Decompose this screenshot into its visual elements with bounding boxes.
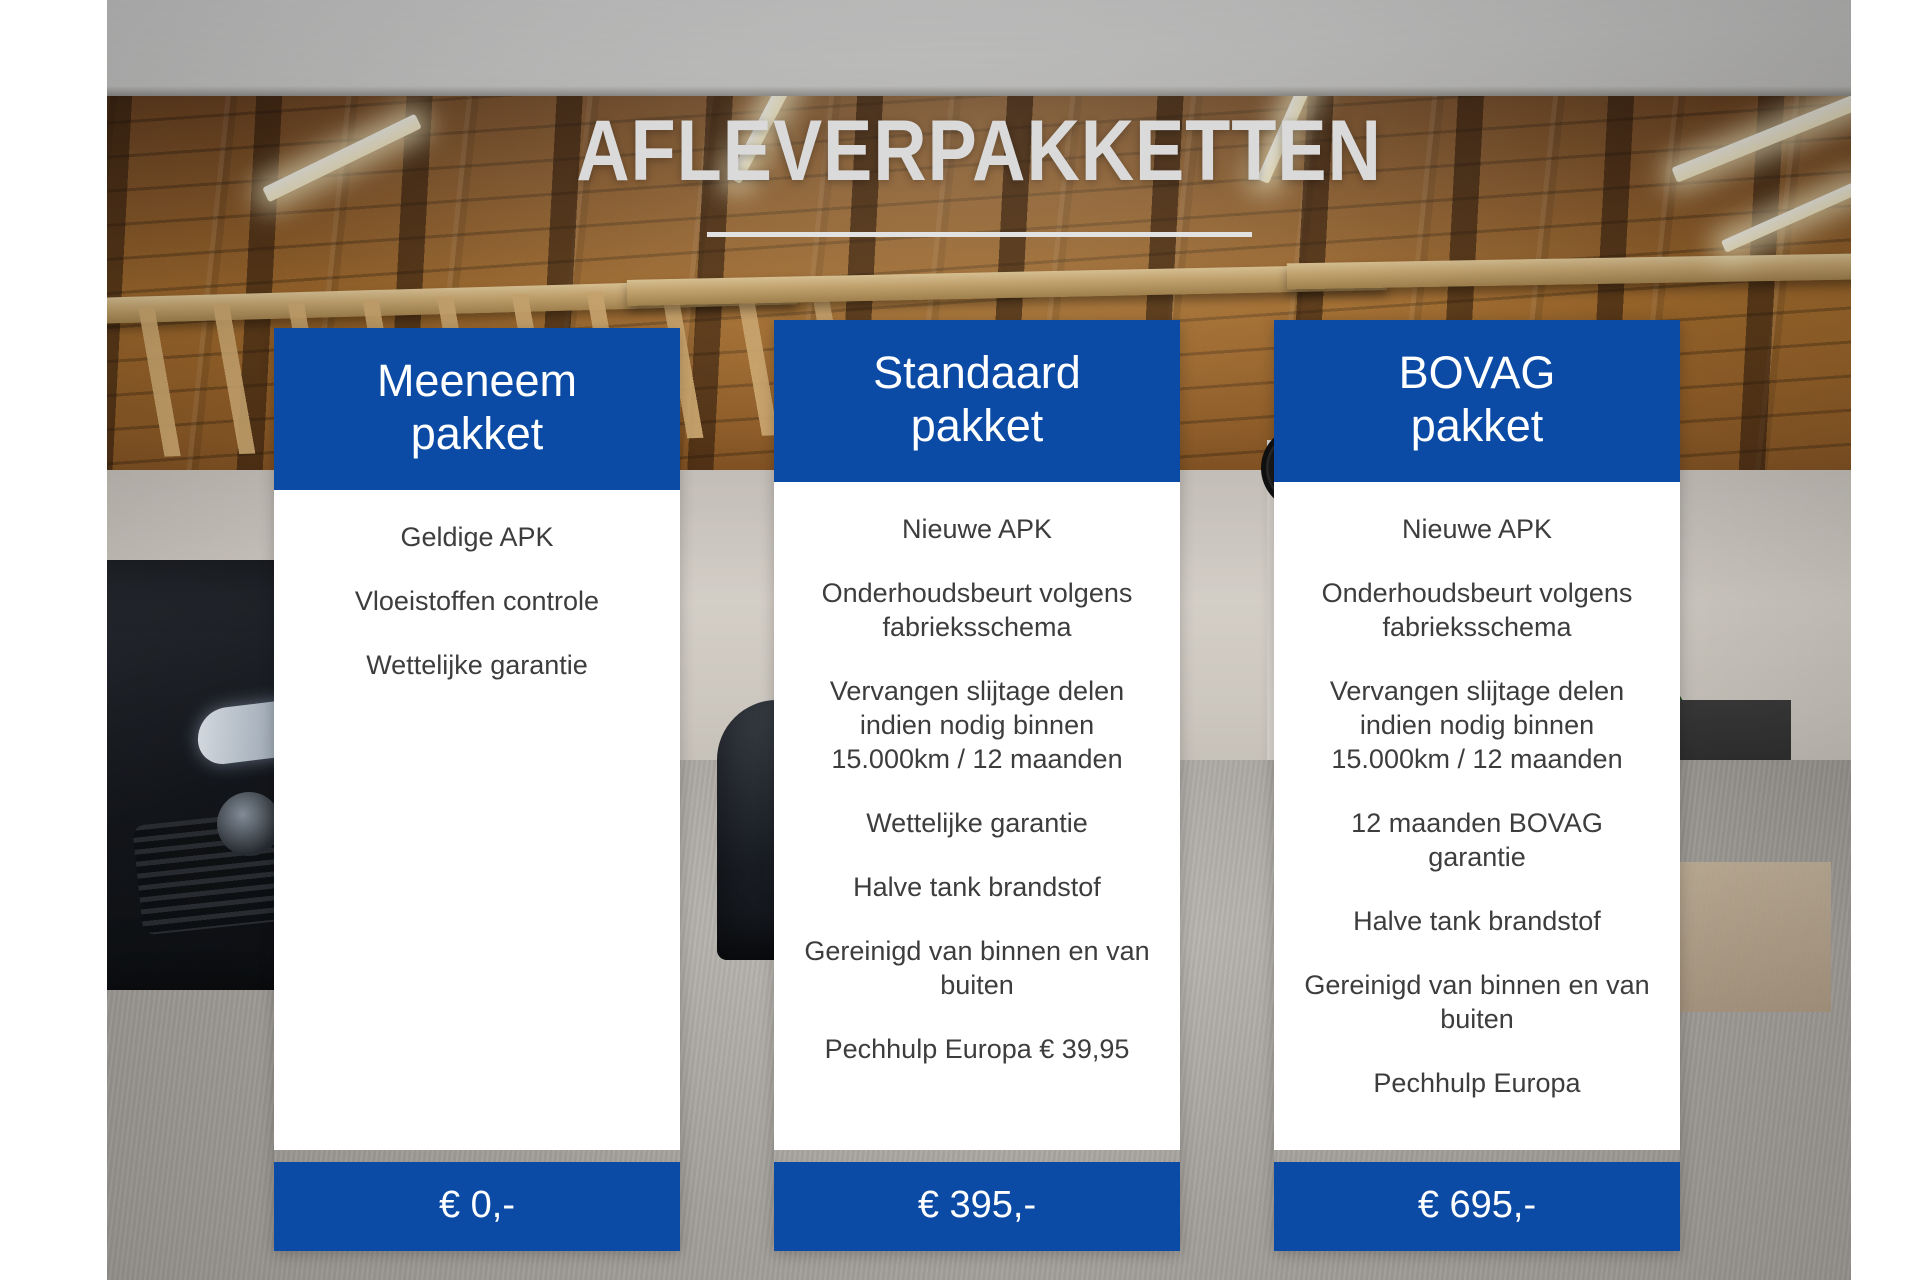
package-name-line1: Standaard (784, 346, 1170, 399)
package-card-header: Standaard pakket (774, 320, 1180, 482)
package-feature: Onderhoudsbeurt volgens fabrieksschema (800, 576, 1154, 644)
package-feature-list: Nieuwe APK Onderhoudsbeurt volgens fabri… (1274, 482, 1680, 1150)
title-underline (707, 232, 1252, 237)
package-price: € 695,- (1274, 1162, 1680, 1251)
package-feature-list: Nieuwe APK Onderhoudsbeurt volgens fabri… (774, 482, 1180, 1150)
package-card-bovag[interactable]: BOVAG pakket Nieuwe APK Onderhoudsbeurt … (1274, 320, 1680, 1251)
package-feature: Pechhulp Europa € 39,95 (800, 1032, 1154, 1066)
package-card-meeneem[interactable]: Meeneem pakket Geldige APK Vloeistoffen … (274, 328, 680, 1251)
ceiling-soffit (107, 0, 1851, 96)
package-feature: Pechhulp Europa (1300, 1066, 1654, 1100)
package-name-line1: BOVAG (1284, 346, 1670, 399)
package-card-header: Meeneem pakket (274, 328, 680, 490)
car-foglight (217, 792, 281, 856)
package-name-line2: pakket (284, 407, 670, 460)
package-feature: Wettelijke garantie (300, 648, 654, 682)
package-feature-list: Geldige APK Vloeistoffen controle Wettel… (274, 490, 680, 1150)
package-name-line2: pakket (1284, 399, 1670, 452)
package-feature: Geldige APK (300, 520, 654, 554)
package-name-line1: Meeneem (284, 354, 670, 407)
package-price: € 395,- (774, 1162, 1180, 1251)
card-gap (1274, 1150, 1680, 1162)
package-feature: Vervangen slijtage delen indien nodig bi… (1300, 674, 1654, 776)
page-title: AFLEVERPAKKETTEN (229, 108, 1729, 194)
card-gap (274, 1150, 680, 1162)
package-feature: Wettelijke garantie (800, 806, 1154, 840)
package-card-standaard[interactable]: Standaard pakket Nieuwe APK Onderhoudsbe… (774, 320, 1180, 1251)
package-feature: Halve tank brandstof (800, 870, 1154, 904)
package-price: € 0,- (274, 1162, 680, 1251)
package-feature: Vloeistoffen controle (300, 584, 654, 618)
package-card-header: BOVAG pakket (1274, 320, 1680, 482)
package-name-line2: pakket (784, 399, 1170, 452)
slide-root: elf (0, 0, 1920, 1280)
package-feature: Nieuwe APK (800, 512, 1154, 546)
package-feature: Vervangen slijtage delen indien nodig bi… (800, 674, 1154, 776)
title-block: AFLEVERPAKKETTEN (107, 108, 1851, 237)
package-feature: Nieuwe APK (1300, 512, 1654, 546)
package-feature: Onderhoudsbeurt volgens fabrieksschema (1300, 576, 1654, 644)
package-feature: Halve tank brandstof (1300, 904, 1654, 938)
card-gap (774, 1150, 1180, 1162)
package-feature: Gereinigd van binnen en van buiten (800, 934, 1154, 1002)
package-feature: Gereinigd van binnen en van buiten (1300, 968, 1654, 1036)
package-feature: 12 maanden BOVAG garantie (1300, 806, 1654, 874)
